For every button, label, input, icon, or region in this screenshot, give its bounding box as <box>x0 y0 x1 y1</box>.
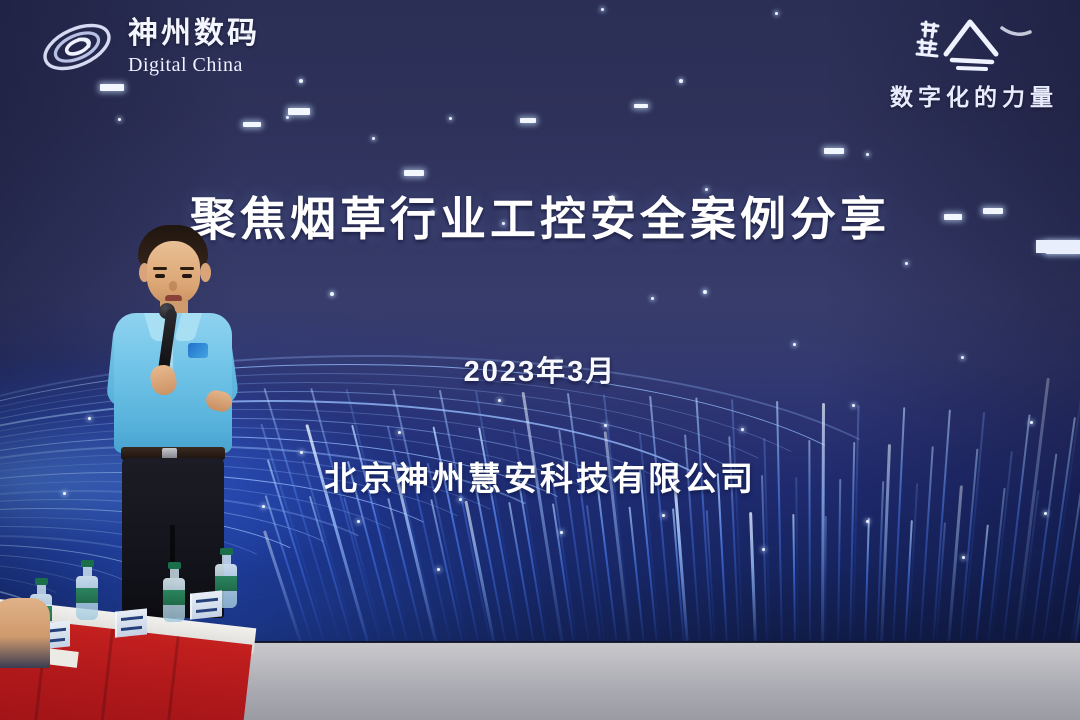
screenshot-root: 神州数码 Digital China 数字化的力量 聚焦烟草行业工控安全案例分享… <box>0 0 1080 720</box>
water-bottle <box>163 562 185 622</box>
juhe-brand: 数字化的力量 <box>890 14 1058 112</box>
presenter-shirt-emblem <box>188 343 208 358</box>
presenter-ear-right <box>200 263 211 282</box>
juhe-calligraphy-logo <box>908 14 1058 76</box>
presenter-eye-left <box>155 274 165 278</box>
brand-name-en: Digital China <box>128 55 260 75</box>
presenter-nose <box>169 281 177 291</box>
name-card <box>190 590 222 619</box>
decorative-dash <box>1036 240 1080 253</box>
brand-name-cn: 神州数码 <box>128 19 260 49</box>
presenter-brow-left <box>153 267 167 270</box>
name-card <box>115 608 147 637</box>
digital-china-swirl-logo <box>38 16 116 78</box>
digital-china-brand: 神州数码 Digital China <box>38 16 260 78</box>
presenter-brow-right <box>180 267 194 270</box>
water-bottle <box>76 560 98 620</box>
presenter-eye-right <box>182 274 192 278</box>
juhe-tagline: 数字化的力量 <box>890 78 1058 112</box>
seated-attendee <box>0 598 50 668</box>
